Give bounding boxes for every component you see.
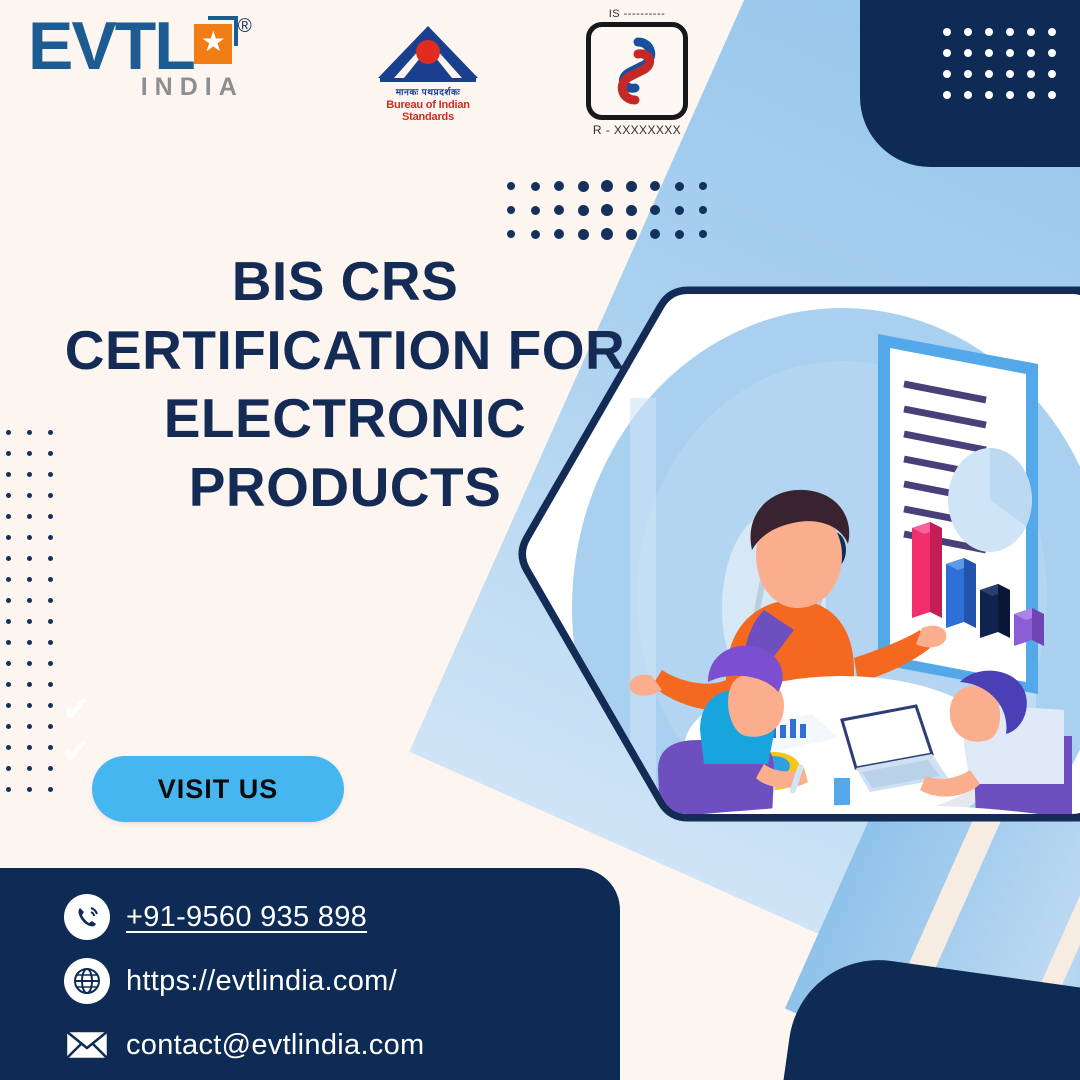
bis-hindi-motto: मानकः पथप्रदर्शकः [368, 85, 488, 98]
checkmark-decor-2: ✔ [62, 735, 91, 769]
decor-dot [6, 640, 11, 645]
decor-dot [6, 577, 11, 582]
decor-dot [27, 787, 32, 792]
decor-dot [531, 182, 540, 191]
bis-logo: मानकः पथप्रदर्शकः Bureau of Indian Stand… [368, 22, 488, 123]
decor-dot [6, 535, 11, 540]
decor-dot [507, 206, 515, 214]
decor-dot [48, 766, 53, 771]
headline-line-1: BIS CRS [0, 247, 690, 316]
decor-dot [48, 661, 53, 666]
decor-dot [650, 229, 660, 239]
decor-dot [699, 182, 707, 190]
decor-dot [531, 230, 540, 239]
decor-dot [48, 577, 53, 582]
decor-dot [650, 205, 660, 215]
contact-email-row[interactable]: contact@evtlindia.com [64, 1022, 620, 1068]
decor-dot [601, 204, 613, 216]
decor-dot [675, 182, 684, 191]
headline-line-4: PRODUCTS [0, 453, 690, 522]
decor-dot [6, 661, 11, 666]
decor-dot [6, 766, 11, 771]
decor-dot [675, 206, 684, 215]
decor-dot [554, 229, 564, 239]
standard-mark-registration: R - XXXXXXXX [578, 123, 696, 137]
decor-dot [6, 598, 11, 603]
decor-dot [626, 205, 637, 216]
decor-dot [554, 181, 564, 191]
decor-dot [48, 619, 53, 624]
decor-dot [699, 230, 707, 238]
poster-canvas: ✔ ✔ EVTL ★ ® INDIA [0, 0, 1080, 1080]
decor-dot [27, 598, 32, 603]
evtl-star-badge-icon: ★ [188, 18, 236, 66]
decor-dot [626, 181, 637, 192]
evtl-logo[interactable]: EVTL ★ ® INDIA [28, 14, 252, 102]
decor-dot [27, 640, 32, 645]
decor-dot [48, 724, 53, 729]
decor-dot [48, 787, 53, 792]
decor-dot [27, 745, 32, 750]
decor-dot [6, 703, 11, 708]
decor-dot [578, 205, 589, 216]
decor-dot [601, 180, 613, 192]
contact-phone-text: +91-9560 935 898 [126, 901, 367, 934]
decor-dot [27, 703, 32, 708]
decor-dot [48, 640, 53, 645]
decor-dot [6, 724, 11, 729]
decor-dot [650, 181, 660, 191]
contact-website-row[interactable]: https://evtlindia.com/ [64, 958, 620, 1004]
decor-dot [48, 703, 53, 708]
decor-dot [48, 745, 53, 750]
globe-icon [64, 958, 110, 1004]
header-logos: EVTL ★ ® INDIA मानकः पथप्रदर्शकः [0, 0, 1080, 150]
decor-dot [6, 787, 11, 792]
decor-dot [626, 229, 637, 240]
decor-dot [531, 206, 540, 215]
standard-mark-is-label: IS ---------- [578, 8, 696, 20]
phone-icon [64, 894, 110, 940]
bis-english-name: Bureau of Indian Standards [368, 99, 488, 123]
decor-dot [27, 577, 32, 582]
headline-line-3: ELECTRONIC [0, 384, 690, 453]
standard-mark: IS ---------- R - XXXXXXXX [578, 8, 696, 137]
standard-mark-box-icon [586, 22, 688, 120]
contact-website-text: https://evtlindia.com/ [126, 965, 397, 998]
decor-dot [27, 535, 32, 540]
decor-dot [578, 229, 589, 240]
decor-dot [27, 724, 32, 729]
decor-dot [48, 535, 53, 540]
page-title: BIS CRS CERTIFICATION FOR ELECTRONIC PRO… [0, 247, 690, 522]
checkmark-decor-1: ✔ [62, 693, 91, 727]
headline-line-2: CERTIFICATION FOR [0, 316, 690, 385]
decor-dot [507, 182, 515, 190]
decor-dot [48, 598, 53, 603]
decor-dot [675, 230, 684, 239]
decor-dot [48, 682, 53, 687]
decor-dot [554, 205, 564, 215]
envelope-icon [64, 1022, 110, 1068]
decor-dot [27, 661, 32, 666]
decor-dot [6, 556, 11, 561]
decor-dot [48, 556, 53, 561]
contact-email-text: contact@evtlindia.com [126, 1029, 424, 1062]
contact-phone-row[interactable]: +91-9560 935 898 [64, 894, 620, 940]
decor-dot [27, 619, 32, 624]
registered-trademark-icon: ® [238, 16, 252, 38]
contact-footer: +91-9560 935 898 https://evtlindia.com/ [0, 868, 620, 1080]
bis-triangle-icon [374, 22, 482, 84]
evtl-logo-text: EVTL [28, 14, 194, 79]
decor-dot [601, 228, 613, 240]
decor-dot [6, 682, 11, 687]
decor-dot [507, 230, 515, 238]
decor-dot [6, 619, 11, 624]
decor-dot [578, 181, 589, 192]
decor-dot [27, 766, 32, 771]
decor-dot [27, 682, 32, 687]
visit-us-button[interactable]: VISIT US [92, 756, 344, 822]
decor-dot [699, 206, 707, 214]
decor-dot [27, 556, 32, 561]
decor-dot [6, 745, 11, 750]
navy-dot-grid-headline [505, 180, 709, 240]
